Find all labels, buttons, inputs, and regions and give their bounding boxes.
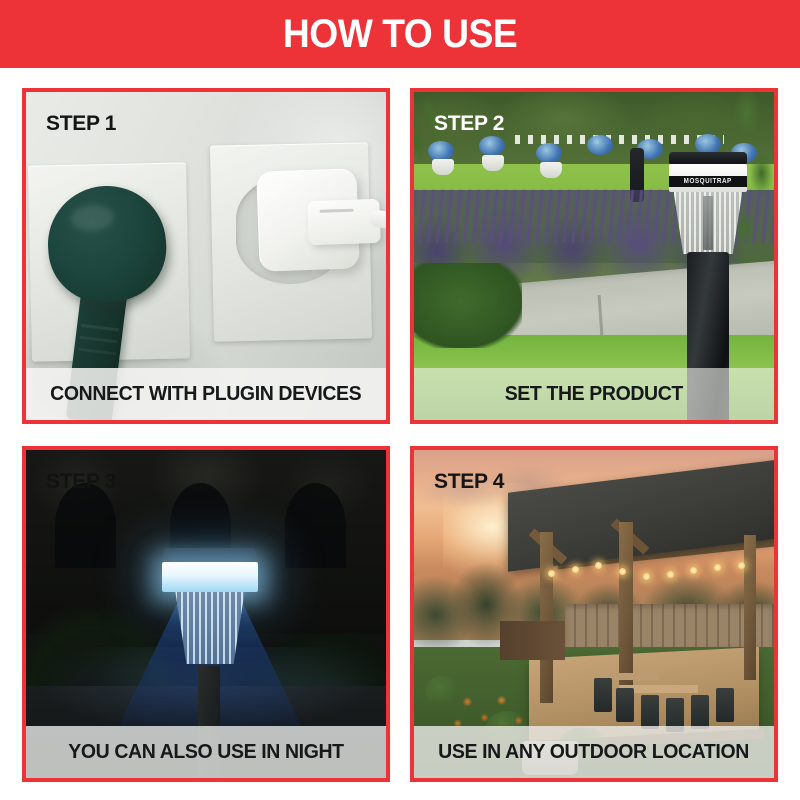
header-banner: HOW TO USE [0, 0, 800, 68]
building-arch [285, 483, 346, 568]
bar-stool [691, 695, 709, 729]
foreground-shrub [414, 263, 522, 348]
device-cage-core [703, 196, 712, 250]
step-panel-3: STEP 3 YOU CAN ALSO USE IN NIGHT [22, 446, 390, 782]
pergola-post [619, 522, 633, 686]
bar-stool [641, 695, 659, 729]
bar-stool [616, 688, 634, 722]
step-panel-4: STEP 4 USE IN ANY OUTDOOR LOCATION [410, 446, 778, 782]
step-1-caption-bar: CONNECT WITH PLUGIN DEVICES [26, 368, 386, 420]
building-arch [55, 483, 116, 568]
step-label-3: STEP 3 [46, 470, 116, 494]
light-bulb [619, 568, 626, 575]
device-logo-text: MOSQUITRAP [684, 178, 732, 185]
device-solar-top [669, 152, 747, 164]
step-1-caption: CONNECT WITH PLUGIN DEVICES [50, 384, 361, 405]
page-title: HOW TO USE [283, 14, 517, 54]
step-4-caption-bar: USE IN ANY OUTDOOR LOCATION [414, 726, 774, 778]
step-3-caption-bar: YOU CAN ALSO USE IN NIGHT [26, 726, 386, 778]
step-2-caption: SET THE PRODUCT [505, 384, 683, 405]
step-4-caption: USE IN ANY OUTDOOR LOCATION [439, 742, 750, 763]
light-bulb [667, 571, 674, 578]
pergola-post [744, 535, 756, 679]
light-bulb [643, 573, 650, 580]
string-lights [544, 558, 760, 592]
light-bulb [714, 564, 721, 571]
bar-stool [594, 678, 612, 712]
step-3-caption: YOU CAN ALSO USE IN NIGHT [68, 742, 343, 763]
steps-grid: STEP 1 CONNECT WITH PLUGIN DEVICES [22, 88, 778, 782]
step-panel-1: STEP 1 CONNECT WITH PLUGIN DEVICES [22, 88, 390, 424]
step-panel-2: MOSQUITRAP STEP 2 SET THE PRODUCT [410, 88, 778, 424]
bar-stool [716, 688, 734, 722]
step-label-2: STEP 2 [434, 112, 504, 136]
step-2-caption-bar: SET THE PRODUCT [414, 368, 774, 420]
device-grid [175, 592, 244, 664]
light-bulb [690, 567, 697, 574]
wood-store [500, 621, 565, 660]
step-label-4: STEP 4 [434, 470, 504, 494]
light-bulb [738, 562, 745, 569]
step-label-1: STEP 1 [46, 112, 116, 136]
uv-light-band [162, 562, 258, 592]
light-bulb [572, 566, 579, 573]
light-bulb [595, 562, 602, 569]
infographic-page: HOW TO USE STEP 1 CONNECT WITH PLUGIN DE… [0, 0, 800, 800]
device-logo-strip: MOSQUITRAP [669, 176, 747, 187]
light-bulb [548, 570, 555, 577]
flower-cluster [587, 135, 613, 155]
